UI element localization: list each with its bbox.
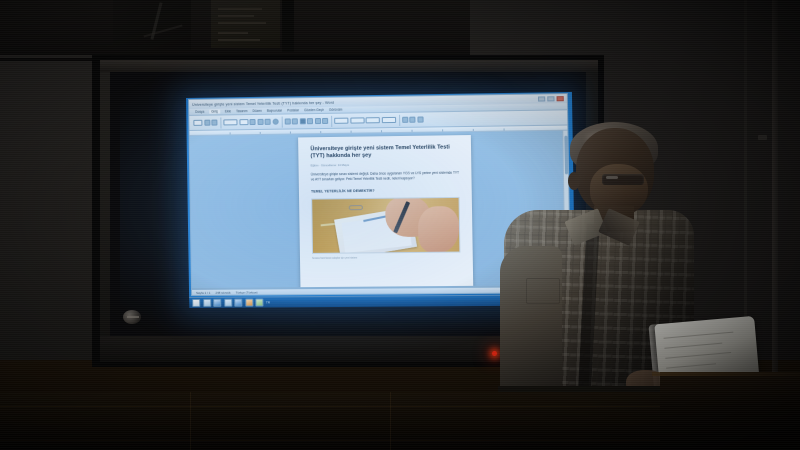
folder-icon[interactable] [245, 299, 253, 307]
tab-duzen[interactable]: Düzen [252, 109, 261, 113]
align-right-icon[interactable] [314, 118, 320, 124]
tab-gorunum[interactable]: Görünüm [329, 108, 343, 112]
tray-language[interactable]: TR [266, 300, 270, 304]
document-subheading: TEMEL YETERLİLİK NE DEMEKTİR? [311, 188, 459, 194]
document-meta: Eğitim · Güncelleme: 14 Mayıs [311, 162, 459, 168]
desk-right [660, 372, 800, 450]
cut-icon[interactable] [204, 120, 210, 126]
whiteboard-top-rail [100, 60, 598, 72]
document-page[interactable]: Üniversiteye girişte yeni sistem Temel Y… [298, 135, 473, 288]
status-page: Sayfa 1 / 1 [196, 290, 210, 294]
photo-hand-right [418, 206, 460, 253]
document-body: Üniversiteye girişte sınav sistemi değiş… [311, 171, 460, 182]
poster-paper [211, 0, 280, 48]
paragraph-group[interactable] [284, 115, 332, 127]
window-title: Üniversiteye girişte yeni sistem Temel Y… [192, 100, 334, 106]
line-spacing-icon[interactable] [322, 118, 328, 124]
window-controls[interactable] [538, 96, 564, 101]
media-icon[interactable] [224, 299, 232, 307]
replace-icon[interactable] [409, 117, 415, 123]
underline-icon[interactable] [265, 119, 271, 125]
status-wordcount: 248 sözcük [215, 290, 230, 294]
find-icon[interactable] [402, 117, 408, 123]
tab-giris[interactable]: Giriş [209, 109, 220, 113]
cabinet-seam-2 [390, 392, 391, 450]
desk-edge-highlight [652, 372, 800, 376]
cabinet-seam-1 [190, 392, 191, 450]
align-center-icon[interactable] [307, 118, 313, 124]
eyeglasses [602, 174, 644, 185]
document-title: Üniversiteye girişte yeni sistem Temel Y… [310, 144, 459, 159]
poster-dark [113, 0, 191, 50]
volume-knob[interactable] [123, 310, 141, 324]
wall-hook [758, 135, 767, 140]
copy-icon[interactable] [211, 120, 217, 126]
tab-gozden-gecir[interactable]: Gözden Geçir [304, 108, 324, 112]
tab-tasarim[interactable]: Tasarım [236, 109, 247, 113]
browser-icon[interactable] [213, 299, 221, 307]
tab-dosya[interactable]: Dosya [195, 110, 204, 114]
style-heading2[interactable] [366, 117, 380, 123]
close-icon[interactable] [557, 96, 564, 101]
cabinet-line-bottom [0, 440, 660, 441]
left-arm [500, 246, 562, 406]
style-normal[interactable] [334, 118, 348, 124]
paste-icon[interactable] [193, 120, 202, 126]
poster-strip [282, 0, 294, 52]
tab-postalar[interactable]: Postalar [287, 108, 299, 112]
bold-icon[interactable] [249, 119, 255, 125]
editing-group[interactable] [402, 114, 427, 125]
tab-ekle[interactable]: Ekle [225, 109, 231, 113]
explorer-icon[interactable] [203, 299, 211, 307]
shirt-pocket [526, 278, 560, 304]
ear [568, 172, 580, 190]
document-photo [311, 197, 460, 254]
classroom-scene: Üniversiteye girişte yeni sistem Temel Y… [0, 0, 800, 450]
align-left-icon[interactable] [299, 118, 305, 124]
italic-icon[interactable] [257, 119, 263, 125]
door-frame-edge [772, 0, 778, 390]
font-family-select[interactable] [223, 119, 237, 125]
font-size-select[interactable] [239, 119, 248, 125]
status-language[interactable]: Türkçe (Türkiye) [236, 290, 258, 294]
cabinet-line-top [0, 406, 660, 407]
cabinet-front [0, 392, 660, 450]
bullets-icon[interactable] [284, 118, 290, 124]
photo-caption: Sınava hazırlanan adaylar için yeni sist… [312, 256, 460, 260]
mail-icon[interactable] [255, 298, 263, 306]
tab-basvurular[interactable]: Başvurular [267, 109, 282, 113]
clipboard-group[interactable] [193, 117, 221, 128]
power-led-red [492, 351, 497, 356]
start-icon[interactable] [192, 299, 200, 307]
style-title[interactable] [381, 117, 395, 123]
paperclip-shape [349, 205, 363, 210]
styles-group[interactable] [334, 114, 400, 126]
maximize-icon[interactable] [547, 96, 554, 101]
word-icon[interactable] [234, 299, 242, 307]
text-color-icon[interactable] [272, 119, 278, 125]
style-heading1[interactable] [350, 117, 364, 123]
select-icon[interactable] [417, 116, 423, 122]
font-group[interactable] [223, 116, 282, 128]
numbering-icon[interactable] [292, 118, 298, 124]
minimize-icon[interactable] [538, 96, 545, 101]
